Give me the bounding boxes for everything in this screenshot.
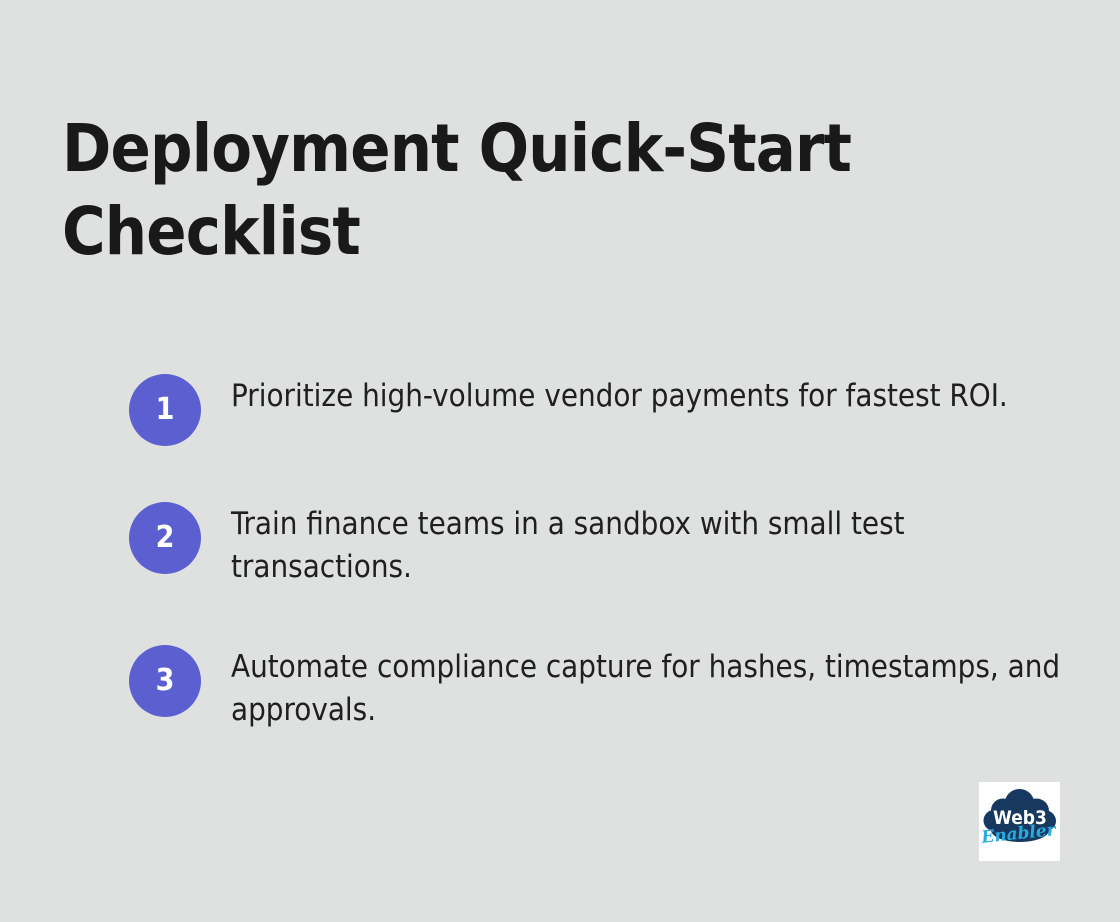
step-text: Train finance teams in a sandbox with sm… <box>231 502 991 589</box>
brand-logo: Web3 Enabler <box>979 782 1060 861</box>
list-item: 1 Prioritize high-volume vendor payments… <box>129 374 1074 446</box>
step-badge-2: 2 <box>129 502 201 574</box>
step-text: Prioritize high-volume vendor payments f… <box>231 374 1031 418</box>
page-title: Deployment Quick-Start Checklist <box>62 107 892 273</box>
slide-canvas: Deployment Quick-Start Checklist 1 Prior… <box>0 0 1120 922</box>
list-item: 3 Automate compliance capture for hashes… <box>129 645 1074 732</box>
step-badge-3: 3 <box>129 645 201 717</box>
step-badge-1: 1 <box>129 374 201 446</box>
step-number: 1 <box>156 395 175 425</box>
list-item: 2 Train finance teams in a sandbox with … <box>129 502 1074 589</box>
step-number: 2 <box>156 523 175 553</box>
checklist: 1 Prioritize high-volume vendor payments… <box>129 374 1074 732</box>
step-text: Automate compliance capture for hashes, … <box>231 645 1074 732</box>
step-number: 3 <box>156 666 175 696</box>
title-block: Deployment Quick-Start Checklist <box>62 107 892 273</box>
cloud-icon: Web3 Enabler <box>979 782 1060 861</box>
